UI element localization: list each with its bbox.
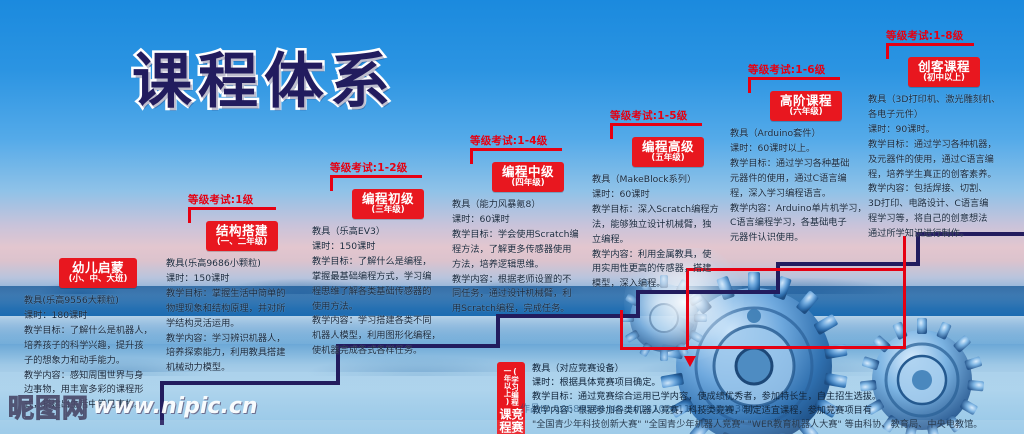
grade-exam-label-2: 等级考试:1级	[188, 192, 318, 207]
course-tag-7[interactable]: 创客课程 (初中以上)	[908, 57, 980, 87]
course-column-4[interactable]: 等级考试:1-4级 编程中级 (四年级) 教具（能力风暴氪8） 课时：60课时 …	[452, 133, 604, 317]
course-tag-5[interactable]: 编程高级 (五年级)	[632, 137, 704, 167]
grade-exam-label-6: 等级考试:1-6级	[748, 62, 882, 77]
course-tag-sub-4: (四年级)	[502, 179, 554, 188]
course-body-3: 教具（乐高EV3） 课时：150课时 教学目标：了解什么是编程， 掌握最基础编程…	[312, 225, 464, 359]
connector-red-seg	[903, 236, 906, 349]
course-column-3[interactable]: 等级考试:1-2级 编程初级 (三年级) 教具（乐高EV3） 课时：150课时 …	[312, 160, 464, 359]
grade-exam-label-5: 等级考试:1-5级	[610, 108, 744, 123]
course-tag-title-3: 编程初级	[362, 192, 414, 205]
tag-stem-6	[748, 77, 751, 93]
watermark: 昵图网 www.nipic.cn	[8, 388, 258, 425]
course-column-7[interactable]: 等级考试:1-8级 创客课程 (初中以上) 教具（3D打印机、激光雕刻机、 各电…	[868, 28, 1020, 242]
course-tag-6[interactable]: 高阶课程 (六年级)	[770, 91, 842, 121]
connector-navy-seg	[636, 290, 640, 318]
course-body-7: 教具（3D打印机、激光雕刻机、 各电子元件） 课时：90课时。 教学目标：通过学…	[868, 93, 1020, 242]
course-tag-2[interactable]: 结构搭建 (一、二年级)	[206, 221, 278, 251]
tag-stem-5	[610, 123, 702, 126]
tag-stem-3	[330, 175, 422, 178]
course-column-5[interactable]: 等级考试:1-5级 编程高级 (五年级) 教具（MakeBlock系列） 课时：…	[592, 108, 744, 292]
grade-exam-label-7: 等级考试:1-8级	[886, 28, 1020, 43]
tag-stem-6	[748, 77, 840, 80]
course-body-5: 教具（MakeBlock系列） 课时：60课时 教学目标：深入Scratch编程…	[592, 173, 744, 292]
page-title: 课程体系	[132, 33, 396, 120]
course-body-2: 教具(乐高9686小颗粒) 课时：150课时 教学目标：掌握生活中简单的 物理现…	[166, 257, 318, 376]
course-tag-sub-3: (三年级)	[362, 206, 414, 215]
connector-red-seg	[620, 347, 688, 350]
tag-stem-4	[470, 148, 562, 151]
course-tag-sub-2: (一、二年级)	[216, 238, 268, 247]
course-tag-title-1: 幼儿启蒙	[69, 261, 128, 274]
connector-red-seg	[686, 346, 906, 349]
course-tag-3[interactable]: 编程初级 (三年级)	[352, 189, 424, 219]
watermark-site-name: 昵图网	[8, 388, 89, 425]
course-tag-title-6: 高阶课程	[780, 94, 832, 107]
course-column-2[interactable]: 等级考试:1级 结构搭建 (一、二年级) 教具(乐高9686小颗粒) 课时：15…	[166, 192, 318, 376]
tag-stem-5	[610, 123, 613, 139]
connector-navy-seg	[160, 381, 340, 385]
course-tag-title-4: 编程中级	[502, 165, 554, 178]
watermark-url: www.nipic.cn	[93, 394, 258, 419]
tag-stem-3	[330, 175, 333, 191]
tag-stem-7	[886, 43, 889, 59]
course-column-6[interactable]: 等级考试:1-6级 高阶课程 (六年级) 教具（Arduino套件） 课时：60…	[730, 62, 882, 246]
course-body-6: 教具（Arduino套件） 课时：60课时以上。 教学目标：通过学习各种基础 元…	[730, 127, 882, 246]
course-body-4: 教具（能力风暴氪8） 课时：60课时 教学目标：学会使用Scratch编 程方法…	[452, 198, 604, 317]
connector-red-seg	[620, 310, 623, 350]
tag-stem-7	[886, 43, 974, 46]
grade-exam-label-4: 等级考试:1-4级	[470, 133, 604, 148]
course-tag-title-7: 创客课程	[918, 60, 970, 73]
connector-navy-seg	[496, 314, 500, 348]
course-tag-title-5: 编程高级	[642, 140, 694, 153]
poster-canvas: 课程体系 幼儿启蒙 (小、中、大班) 教具(乐高9556大颗粒) 课时：180课…	[0, 0, 1024, 434]
grade-exam-label-3: 等级考试:1-2级	[330, 160, 464, 175]
course-tag-1[interactable]: 幼儿启蒙 (小、中、大班)	[59, 258, 138, 288]
course-tag-4[interactable]: 编程中级 (四年级)	[492, 162, 564, 192]
tag-stem-4	[470, 148, 473, 164]
tag-stem-2	[188, 207, 191, 223]
competition-tag-sub: (学习编程一年以上)	[504, 367, 519, 407]
connector-navy-seg	[776, 262, 920, 266]
course-tag-sub-1: (小、中、大班)	[69, 275, 128, 284]
course-tag-sub-5: (五年级)	[642, 154, 694, 163]
watermark-id-text: 作品ID:10689584 NO:20181025114378740380	[520, 400, 754, 415]
course-tag-title-2: 结构搭建	[216, 224, 268, 237]
tag-stem-2	[188, 207, 276, 210]
connector-navy-seg	[776, 262, 780, 294]
course-tag-sub-6: (六年级)	[780, 108, 832, 117]
course-tag-sub-7: (初中以上)	[918, 74, 970, 83]
